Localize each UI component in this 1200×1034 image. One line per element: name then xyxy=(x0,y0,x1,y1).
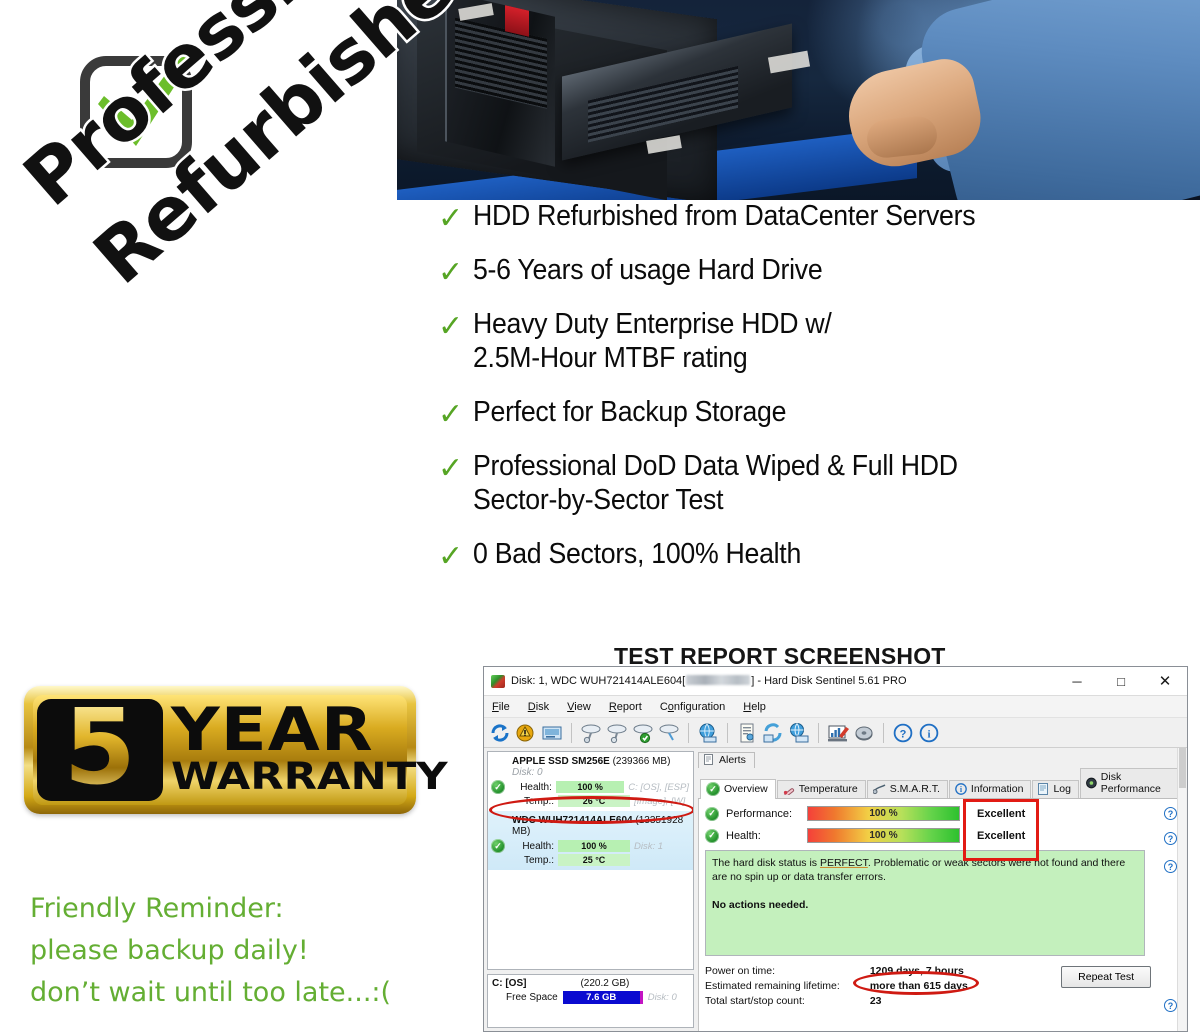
power-on-time-label: Power on time: xyxy=(705,964,840,979)
svg-text:i: i xyxy=(927,728,930,740)
disk-list: APPLE SSD SM256E (239366 MB) Disk: 0 ✓ H… xyxy=(487,751,694,970)
health-row: ✓ Health: 100 % Excellent ? xyxy=(705,828,1177,843)
disk-1-name: WDC WUH721414ALE604 xyxy=(512,815,633,826)
datacenter-server-photo xyxy=(397,0,1200,200)
disk-1-number: Disk: 1 xyxy=(634,841,663,852)
feature-text: HDD Refurbished from DataCenter Servers xyxy=(473,200,975,234)
window-body: APPLE SSD SM256E (239366 MB) Disk: 0 ✓ H… xyxy=(484,748,1187,1031)
disk-0-volumes-2: [Image], [W] xyxy=(634,796,685,807)
vertical-scrollbar[interactable] xyxy=(1177,748,1186,1031)
help-circle-icon[interactable]: ? xyxy=(1164,832,1177,845)
drive-caddy-installed xyxy=(445,0,555,167)
disk-0-health-label: Health: xyxy=(512,782,552,793)
ok-check-icon: ✓ xyxy=(705,807,719,821)
health-bar: 100 % xyxy=(807,828,960,843)
disk-test-1-icon[interactable] xyxy=(580,722,602,744)
menu-disk-rest: isk xyxy=(536,701,549,713)
menu-bar: File Disk View Report Configuration Help xyxy=(484,696,1187,718)
ok-check-icon: ✓ xyxy=(491,780,505,794)
power-on-time-value: 1209 days, 7 hours xyxy=(870,964,968,979)
toolbar-separator xyxy=(818,723,819,743)
disk-info-icon[interactable] xyxy=(541,722,563,744)
warranty-number: 5 xyxy=(64,695,136,799)
caddy-red-latch xyxy=(505,5,529,37)
toolbar-separator xyxy=(571,723,572,743)
tab-alerts-label: Alerts xyxy=(719,754,746,766)
disk-0-header: APPLE SSD SM256E (239366 MB) Disk: 0 xyxy=(492,754,689,780)
report-icon[interactable] xyxy=(736,722,758,744)
feature-text: Heavy Duty Enterprise HDD w/ 2.5M-Hour M… xyxy=(473,308,831,376)
toolbar: ? i xyxy=(484,718,1187,748)
menu-item-report[interactable]: Report xyxy=(609,701,642,713)
free-space-label: Free Space xyxy=(506,992,558,1003)
platter-icon[interactable] xyxy=(853,722,875,744)
disk-0-health-row: ✓ Health: 100 % C: [OS], [ESP] xyxy=(492,780,689,794)
refresh-icon[interactable] xyxy=(489,722,511,744)
tab-disk-performance-label: Disk Performance xyxy=(1101,771,1176,795)
status-text-perfect: PERFECT xyxy=(820,857,868,869)
check-icon: ✓ xyxy=(438,542,463,572)
menu-item-help[interactable]: Help xyxy=(743,701,766,713)
log-icon xyxy=(1038,783,1049,795)
feature-text: 5-6 Years of usage Hard Drive xyxy=(473,254,822,288)
caddy-vent xyxy=(455,18,547,109)
reminder-line-3: don’t wait until too late...:( xyxy=(30,972,460,1014)
start-stop-count-label: Total start/stop count: xyxy=(705,994,840,1009)
warranty-word-label: WARRANTY xyxy=(171,758,448,795)
check-icon: ✓ xyxy=(438,454,463,484)
warranty-text-block: YEAR WARRANTY xyxy=(167,695,407,805)
warranty-number-plate: 5 xyxy=(37,699,163,801)
window-title-bar[interactable]: Disk: 1, WDC WUH721414ALE604[] - Hard Di… xyxy=(484,667,1187,696)
disk-0-number: Disk: 0 xyxy=(512,767,543,778)
disk-0-volumes: C: [OS], [ESP] xyxy=(628,782,689,793)
menu-item-view[interactable]: View xyxy=(567,701,591,713)
check-icon: ✓ xyxy=(438,312,463,342)
help-icon[interactable]: ? xyxy=(892,722,914,744)
warning-disk-icon[interactable] xyxy=(515,722,537,744)
info-icon[interactable]: i xyxy=(918,722,940,744)
partition-list: C: [OS] (220.2 GB) Free Space 7.6 GB Dis… xyxy=(487,974,694,1028)
footer-info: Power on time: Estimated remaining lifet… xyxy=(705,964,1177,1010)
status-no-actions: No actions needed. xyxy=(712,898,1138,912)
disk-0-health-bar: 100 % xyxy=(556,781,624,793)
overview-pane: ✓ Performance: 100 % Excellent ? ✓ Healt… xyxy=(698,799,1184,1032)
remaining-lifetime-value: more than 615 days xyxy=(870,979,968,994)
partition-capacity: (220.2 GB) xyxy=(580,978,629,989)
smart-icon xyxy=(873,783,886,795)
remaining-lifetime-label: Estimated remaining lifetime: xyxy=(705,979,840,994)
status-message-box: The hard disk status is PERFECT. Problem… xyxy=(705,850,1145,956)
performance-label: Performance: xyxy=(726,808,800,820)
tab-information[interactable]: i Information xyxy=(949,780,1032,798)
disk-0-name: APPLE SSD SM256E xyxy=(512,756,610,767)
disk-0-temp-bar: 26 °C xyxy=(558,795,630,807)
window-title-prefix: Disk: 1, WDC WUH721414ALE604[ xyxy=(511,675,685,687)
tab-temperature-label: Temperature xyxy=(799,783,858,795)
feature-text: 0 Bad Sectors, 100% Health xyxy=(473,538,801,572)
warranty-year-label: YEAR xyxy=(171,705,436,757)
partition-name: C: [OS] xyxy=(492,978,526,989)
alerts-page-icon xyxy=(704,754,715,766)
performance-bar: 100 % xyxy=(807,806,960,821)
footer-values: 1209 days, 7 hours more than 615 days 23 xyxy=(870,964,968,1010)
feature-text: Perfect for Backup Storage xyxy=(473,396,786,430)
health-label: Health: xyxy=(726,830,800,842)
redacted-serial xyxy=(686,675,750,685)
feature-item: ✓ Perfect for Backup Storage xyxy=(438,396,1198,430)
disk-panel: APPLE SSD SM256E (239366 MB) Disk: 0 ✓ H… xyxy=(484,748,697,1031)
disk-1-health-bar: 100 % xyxy=(558,840,630,852)
repeat-test-button[interactable]: Repeat Test xyxy=(1061,966,1151,988)
help-circle-icon[interactable]: ? xyxy=(1164,807,1177,820)
disk-0-temp-row: Temp.: 26 °C [Image], [W] xyxy=(492,794,689,808)
reminder-line-1: Friendly Reminder: xyxy=(30,888,460,930)
scrollbar-thumb[interactable] xyxy=(1179,748,1186,788)
disk-1-temp-label: Temp.: xyxy=(512,855,554,866)
disk-entry-0[interactable]: APPLE SSD SM256E (239366 MB) Disk: 0 ✓ H… xyxy=(488,752,693,811)
feature-list: ✓ HDD Refurbished from DataCenter Server… xyxy=(438,200,1198,592)
window-controls: ─ □ ✕ xyxy=(1055,667,1187,695)
disk-test-4-icon[interactable] xyxy=(658,722,680,744)
partition-disk-number: Disk: 0 xyxy=(648,992,677,1003)
hard-disk-sentinel-window: Disk: 1, WDC WUH721414ALE604[] - Hard Di… xyxy=(483,666,1188,1032)
minimize-button[interactable]: ─ xyxy=(1055,667,1099,695)
health-rating: Excellent xyxy=(967,829,1035,843)
toolbar-separator xyxy=(883,723,884,743)
tab-alerts[interactable]: Alerts xyxy=(698,752,755,768)
warranty-badge: 5 YEAR WARRANTY xyxy=(24,686,416,814)
menu-item-file[interactable]: File xyxy=(492,701,510,713)
green-check-icon xyxy=(74,38,210,174)
maximize-button[interactable]: □ xyxy=(1099,667,1143,695)
performance-rating: Excellent xyxy=(967,807,1035,821)
menu-view-rest: iew xyxy=(574,701,591,713)
free-space-bar: 7.6 GB xyxy=(563,991,643,1004)
disk-1-header: WDC WUH721414ALE604 (13351928 MB) xyxy=(492,813,689,839)
network-disk-icon[interactable] xyxy=(788,722,810,744)
feature-item: ✓ Professional DoD Data Wiped & Full HDD… xyxy=(438,450,1198,518)
details-panel: Alerts ✓ Overview Temperature S.M.A.R.T.… xyxy=(697,748,1187,1031)
feature-item: ✓ Heavy Duty Enterprise HDD w/ 2.5M-Hour… xyxy=(438,308,1198,376)
footer-labels: Power on time: Estimated remaining lifet… xyxy=(705,964,840,1010)
check-icon: ✓ xyxy=(438,258,463,288)
reminder-line-2: please backup daily! xyxy=(30,930,460,972)
window-title: Disk: 1, WDC WUH721414ALE604[] - Hard Di… xyxy=(511,675,907,687)
ok-check-icon: ✓ xyxy=(491,839,505,853)
feature-text: Professional DoD Data Wiped & Full HDD S… xyxy=(473,450,958,518)
disk-1-temp-row: Temp.: 25 °C xyxy=(492,853,689,867)
partition-header: C: [OS] (220.2 GB) xyxy=(492,978,689,989)
menu-file-rest: ile xyxy=(499,701,510,713)
close-button[interactable]: ✕ xyxy=(1143,667,1187,695)
disk-0-capacity: (239366 MB) xyxy=(613,756,671,767)
toolbar-separator xyxy=(688,723,689,743)
feature-item: ✓ 5-6 Years of usage Hard Drive xyxy=(438,254,1198,288)
disk-test-ok-icon[interactable] xyxy=(632,722,654,744)
tab-information-label: Information xyxy=(971,783,1024,795)
tab-overview-label: Overview xyxy=(724,783,768,795)
svg-text:i: i xyxy=(960,785,963,794)
performance-row: ✓ Performance: 100 % Excellent ? xyxy=(705,806,1177,821)
disk-entry-1[interactable]: WDC WUH721414ALE604 (13351928 MB) ✓ Heal… xyxy=(488,811,693,870)
feature-item: ✓ HDD Refurbished from DataCenter Server… xyxy=(438,200,1198,234)
disk-1-temp-bar: 25 °C xyxy=(558,854,630,866)
menu-item-disk[interactable]: Disk xyxy=(528,701,549,713)
feature-item: ✓ 0 Bad Sectors, 100% Health xyxy=(438,538,1198,572)
tab-log[interactable]: Log xyxy=(1032,780,1079,798)
ok-check-icon: ✓ xyxy=(705,829,719,843)
disk-1-health-label: Health: xyxy=(512,841,554,852)
start-stop-count-value: 23 xyxy=(870,994,968,1009)
detail-tabs: ✓ Overview Temperature S.M.A.R.T. i Info… xyxy=(698,768,1184,799)
chart-edit-icon[interactable] xyxy=(827,722,849,744)
menu-report-rest: eport xyxy=(617,701,642,713)
help-circle-icon[interactable]: ? xyxy=(1164,999,1177,1012)
status-text-part1: The hard disk status is xyxy=(712,857,820,869)
menu-config-rest: nfiguration xyxy=(674,701,725,713)
toolbar-separator xyxy=(727,723,728,743)
check-icon: ✓ xyxy=(438,400,463,430)
checkbox-tick-logo xyxy=(74,38,210,174)
globe-disk-icon[interactable] xyxy=(697,722,719,744)
window-title-suffix: ] - Hard Disk Sentinel 5.61 PRO xyxy=(751,675,906,687)
performance-icon xyxy=(1086,777,1097,789)
check-icon: ✓ xyxy=(438,204,463,234)
info-icon: i xyxy=(955,783,967,795)
ok-check-icon: ✓ xyxy=(706,782,720,796)
thermometer-icon xyxy=(783,783,795,795)
menu-help-rest: elp xyxy=(751,701,766,713)
disk-sentinel-icon xyxy=(491,675,505,688)
sync-network-icon[interactable] xyxy=(762,722,784,744)
disk-0-temp-label: Temp.: xyxy=(512,796,554,807)
partition-free-row: Free Space 7.6 GB Disk: 0 xyxy=(492,991,689,1004)
svg-text:?: ? xyxy=(900,728,907,740)
tab-smart[interactable]: S.M.A.R.T. xyxy=(867,780,948,798)
disk-1-health-row: ✓ Health: 100 % Disk: 1 xyxy=(492,839,689,853)
disk-test-2-icon[interactable] xyxy=(606,722,628,744)
tab-disk-performance[interactable]: Disk Performance xyxy=(1080,768,1184,798)
friendly-reminder: Friendly Reminder: please backup daily! … xyxy=(30,888,460,1014)
help-circle-icon[interactable]: ? xyxy=(1164,860,1177,873)
tab-overview[interactable]: ✓ Overview xyxy=(700,779,776,799)
warranty-badge-inner: 5 YEAR WARRANTY xyxy=(33,695,407,805)
tab-temperature[interactable]: Temperature xyxy=(777,780,866,798)
tab-log-label: Log xyxy=(1053,783,1071,795)
tab-smart-label: S.M.A.R.T. xyxy=(890,783,940,795)
menu-item-configuration[interactable]: Configuration xyxy=(660,701,725,713)
